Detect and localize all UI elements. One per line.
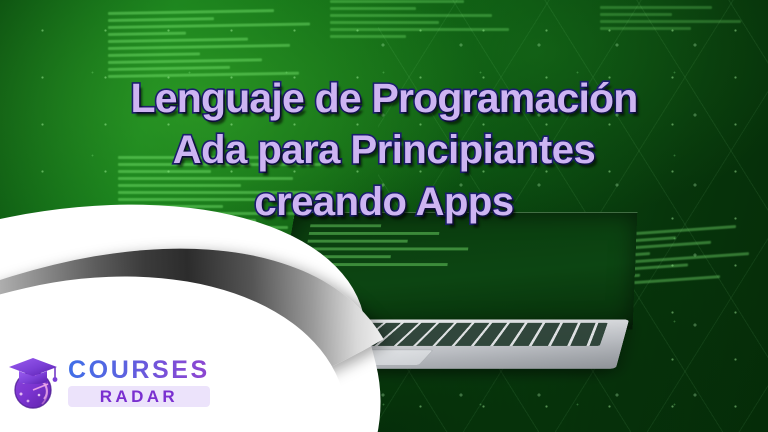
brand-logo[interactable]: COURSES RADAR [8, 354, 210, 410]
title-line-2: Ada para Principiantes [0, 124, 768, 176]
title-line-1: Lenguaje de Programación [0, 72, 768, 124]
laptop-screen-code [303, 224, 547, 271]
title-line-3: creando Apps [0, 176, 768, 228]
code-lines-top-right [600, 6, 760, 34]
code-lines-middle [330, 0, 540, 42]
brand-primary-word: COURSES [68, 358, 210, 383]
brand-secondary-word: RADAR [100, 388, 178, 405]
brand-wordmark: COURSES RADAR [68, 358, 210, 407]
page-title: Lenguaje de Programación Ada para Princi… [0, 72, 768, 228]
graduation-cap-radar-icon [8, 354, 60, 410]
brand-secondary-badge: RADAR [68, 386, 210, 407]
code-lines-left [108, 8, 338, 82]
course-thumbnail-banner: Lenguaje de Programación Ada para Princi… [0, 0, 768, 432]
